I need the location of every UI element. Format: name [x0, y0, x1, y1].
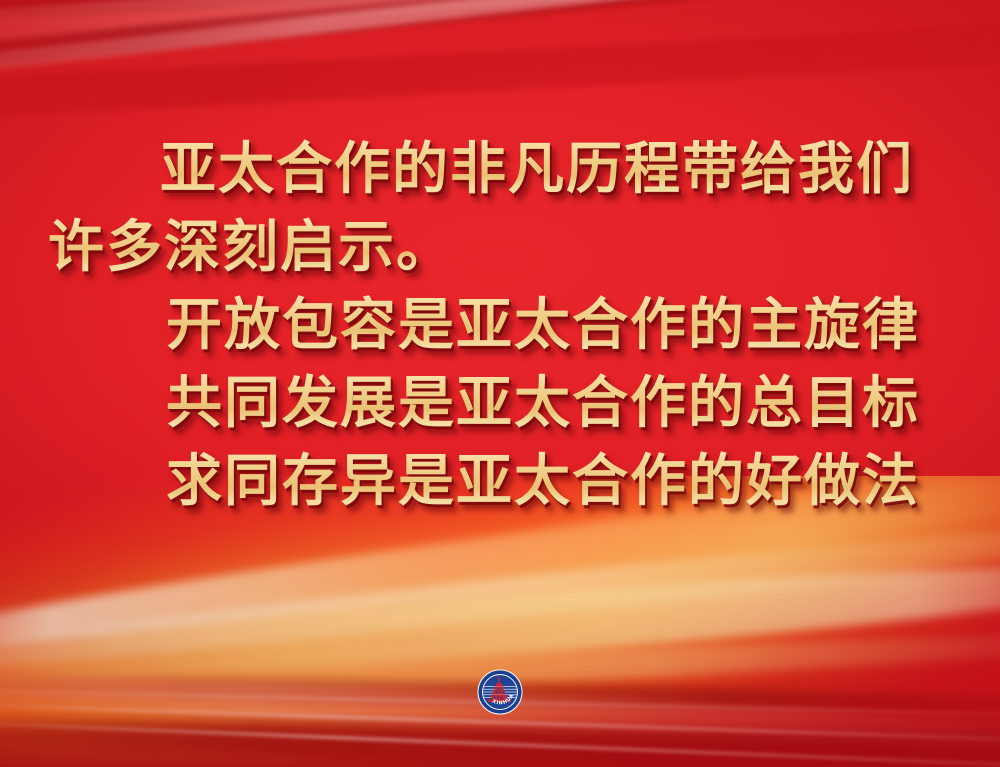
quote-line-2: 许多深刻启示。 [48, 208, 952, 286]
quote-line-4: 共同发展是亚太合作的总目标 [48, 364, 952, 442]
quote-line-3: 开放包容是亚太合作的主旋律 [48, 286, 952, 364]
xinhua-logo: XINHUA [477, 669, 523, 715]
quote-text-block: 亚太合作的非凡历程带给我们 许多深刻启示。 开放包容是亚太合作的主旋律 共同发展… [0, 130, 1000, 520]
xinhua-logo-icon: XINHUA [477, 669, 523, 715]
quote-line-5: 求同存异是亚太合作的好做法 [48, 442, 952, 520]
quote-poster: 亚太合作的非凡历程带给我们 许多深刻启示。 开放包容是亚太合作的主旋律 共同发展… [0, 0, 1000, 767]
quote-line-1: 亚太合作的非凡历程带给我们 [48, 130, 952, 208]
